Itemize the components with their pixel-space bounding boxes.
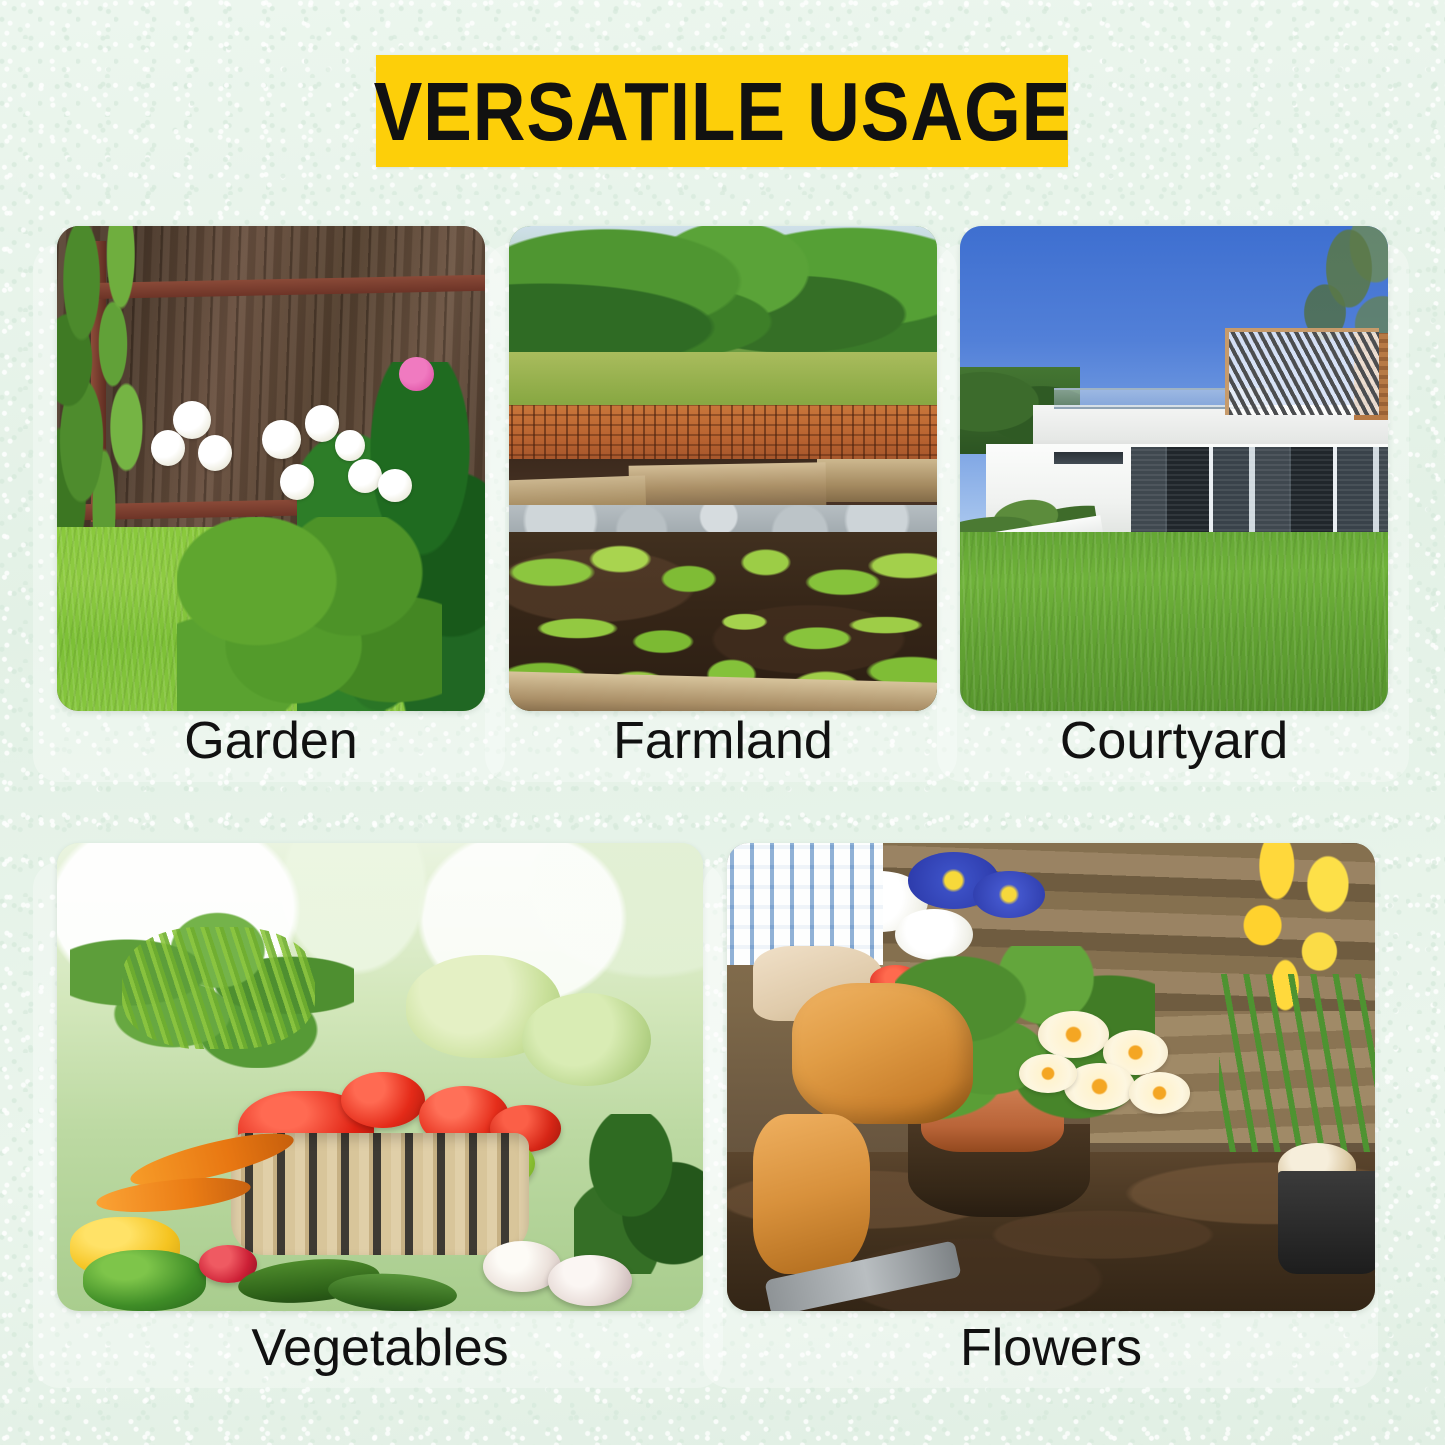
peony-flower	[335, 430, 365, 462]
lawn-texture	[960, 532, 1388, 711]
pink-peony-flower	[399, 357, 433, 391]
lattice-fence-grid	[509, 405, 937, 466]
gardening-glove	[753, 1114, 870, 1273]
peony-flower	[305, 405, 339, 441]
cabbage-second	[522, 993, 651, 1087]
peony-flower	[348, 459, 382, 493]
blue-primrose	[973, 871, 1044, 918]
slot-window	[1054, 452, 1122, 465]
card-label-courtyard: Courtyard	[960, 715, 1388, 767]
photo-farmland	[509, 226, 937, 711]
photo-flowers	[727, 843, 1375, 1311]
green-bell-pepper	[83, 1250, 206, 1311]
dark-leafy-greens	[574, 1114, 703, 1273]
page-background: VERSATILE USAGE Garden	[0, 0, 1445, 1445]
shutter-slats	[1131, 447, 1388, 542]
yellow-primrose	[1019, 1054, 1077, 1094]
title-banner: VERSATILE USAGE	[376, 55, 1068, 167]
photo-vegetables	[57, 843, 703, 1311]
card-label-flowers: Flowers	[727, 1322, 1375, 1374]
pergola-louvres	[1225, 328, 1379, 415]
black-plastic-pot	[1278, 1171, 1375, 1274]
climbing-ivy	[57, 226, 160, 536]
garlic-bulb	[548, 1255, 632, 1306]
card-label-farmland: Farmland	[509, 715, 937, 767]
photo-courtyard	[960, 226, 1388, 711]
peony-flower	[262, 420, 301, 459]
card-label-vegetables: Vegetables	[57, 1322, 703, 1374]
page-title: VERSATILE USAGE	[373, 70, 1071, 153]
shrub-foreground	[177, 517, 442, 711]
photo-garden	[57, 226, 485, 711]
gardening-glove	[792, 983, 973, 1123]
card-label-garden: Garden	[57, 715, 485, 767]
peony-flower	[280, 464, 314, 500]
scallion-bunch	[122, 927, 316, 1049]
raised-bed-right	[817, 459, 937, 503]
